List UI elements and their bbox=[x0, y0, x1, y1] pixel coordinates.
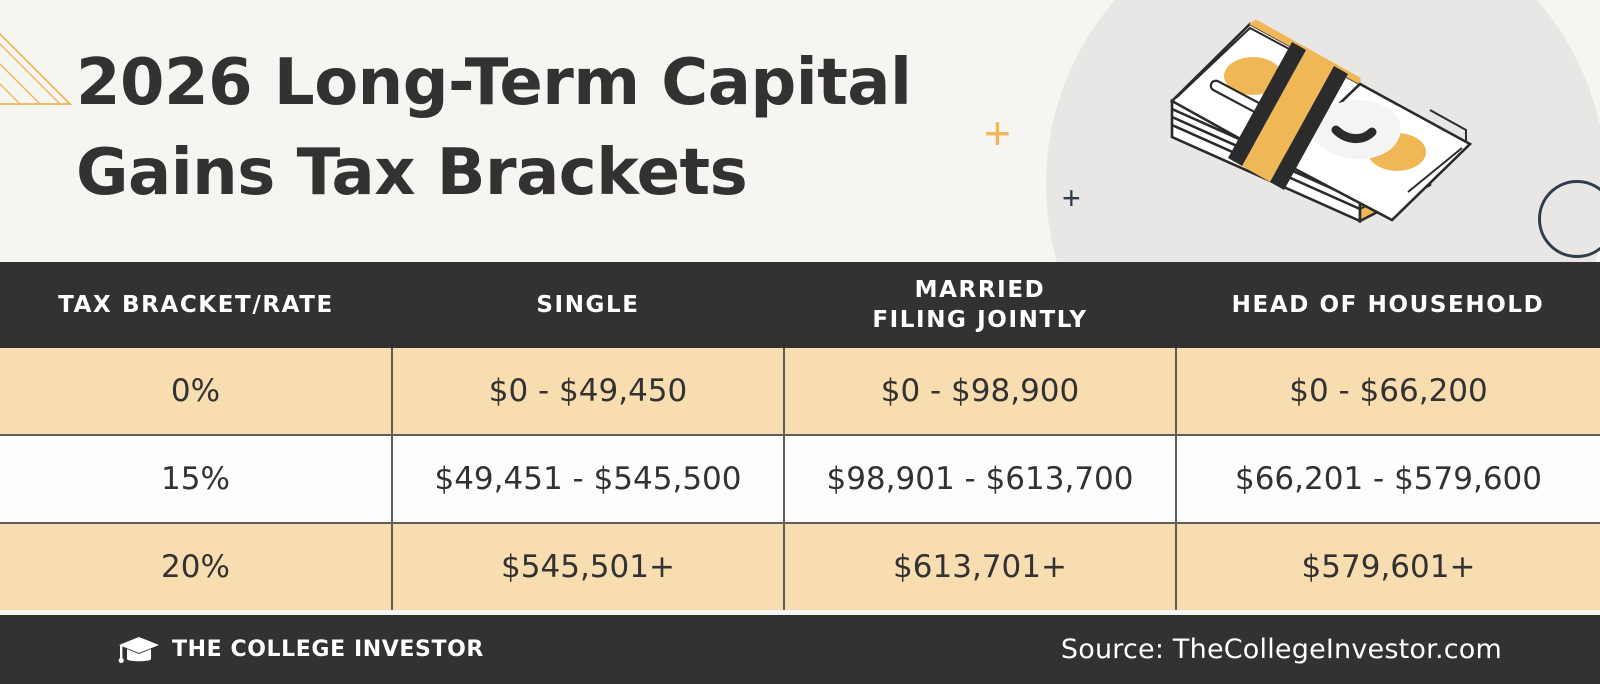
cell-single: $0 - $49,450 bbox=[392, 348, 784, 435]
cell-rate: 0% bbox=[0, 348, 392, 435]
graduation-cap-icon bbox=[118, 635, 160, 665]
page-title: 2026 Long-Term Capital Gains Tax Bracket… bbox=[76, 38, 976, 218]
column-header-married-filing-jointly: MARRIED FILING JOINTLY bbox=[784, 262, 1176, 348]
brand-logo: THE COLLEGE INVESTOR bbox=[118, 635, 484, 665]
cell-married-filing-jointly: $98,901 - $613,700 bbox=[784, 435, 1176, 523]
source-attribution: Source: TheCollegeInvestor.com bbox=[1061, 634, 1502, 665]
cell-married-filing-jointly: $0 - $98,900 bbox=[784, 348, 1176, 435]
cell-single: $545,501+ bbox=[392, 523, 784, 610]
cell-head-of-household: $0 - $66,200 bbox=[1176, 348, 1600, 435]
hatched-triangle-icon bbox=[0, 8, 74, 120]
brand-name: THE COLLEGE INVESTOR bbox=[172, 637, 484, 662]
header-section: 2026 Long-Term Capital Gains Tax Bracket… bbox=[0, 0, 1600, 262]
plus-navy-icon: + bbox=[1062, 182, 1081, 214]
table-row: 15% $49,451 - $545,500 $98,901 - $613,70… bbox=[0, 435, 1600, 523]
infographic-root: 2026 Long-Term Capital Gains Tax Bracket… bbox=[0, 0, 1600, 684]
table-row: 20% $545,501+ $613,701+ $579,601+ bbox=[0, 523, 1600, 610]
column-header-head-of-household: HEAD OF HOUSEHOLD bbox=[1176, 262, 1600, 348]
cash-stack-illustration bbox=[1110, 6, 1510, 246]
footer-bar: THE COLLEGE INVESTOR Source: TheCollegeI… bbox=[0, 615, 1600, 684]
cell-head-of-household: $579,601+ bbox=[1176, 523, 1600, 610]
cell-single: $49,451 - $545,500 bbox=[392, 435, 784, 523]
column-header-tax-bracket-rate: TAX BRACKET/RATE bbox=[0, 262, 392, 348]
cell-rate: 20% bbox=[0, 523, 392, 610]
tax-bracket-table: TAX BRACKET/RATE SINGLE MARRIED FILING J… bbox=[0, 262, 1600, 610]
cell-married-filing-jointly: $613,701+ bbox=[784, 523, 1176, 610]
cell-head-of-household: $66,201 - $579,600 bbox=[1176, 435, 1600, 523]
column-header-single: SINGLE bbox=[392, 262, 784, 348]
cell-rate: 15% bbox=[0, 435, 392, 523]
table-row: 0% $0 - $49,450 $0 - $98,900 $0 - $66,20… bbox=[0, 348, 1600, 435]
table-header-row: TAX BRACKET/RATE SINGLE MARRIED FILING J… bbox=[0, 262, 1600, 348]
plus-gold-icon: + bbox=[984, 110, 1011, 156]
